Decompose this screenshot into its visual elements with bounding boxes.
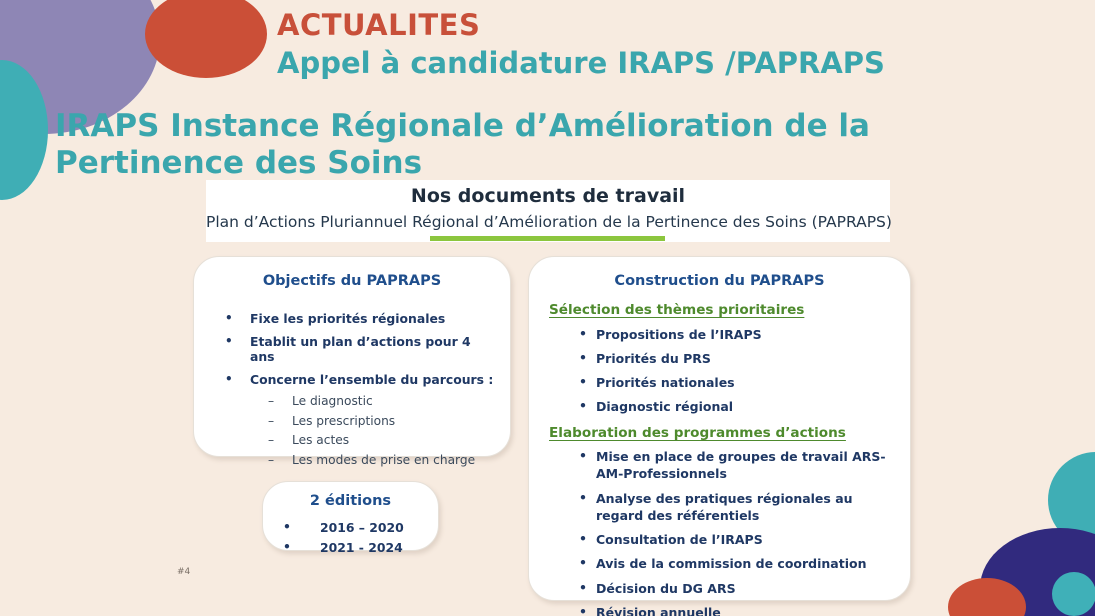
list-item: Les modes de prise en charge bbox=[250, 453, 496, 468]
decorative-circle-orange-top bbox=[145, 0, 267, 78]
list-item: Diagnostic régional bbox=[545, 398, 894, 415]
list-item-label: Concerne l’ensemble du parcours : bbox=[250, 372, 493, 387]
header-eyebrow: ACTUALITES bbox=[277, 8, 885, 42]
list-item: Fixe les priorités régionales bbox=[208, 312, 496, 327]
header-title-block: ACTUALITES Appel à candidature IRAPS /PA… bbox=[277, 8, 885, 81]
list-item: Les actes bbox=[250, 433, 496, 448]
documents-band: Nos documents de travail Plan d’Actions … bbox=[206, 180, 890, 242]
card-editions: 2 éditions 2016 – 2020 2021 - 2024 bbox=[262, 481, 439, 551]
list-item: Analyse des pratiques régionales au rega… bbox=[545, 490, 894, 525]
list-item: Révision annuelle bbox=[545, 604, 894, 616]
section-heading-selection: Sélection des thèmes prioritaires bbox=[549, 302, 894, 318]
green-underline-rule bbox=[430, 236, 665, 241]
card-construction-title: Construction du PAPRAPS bbox=[545, 273, 894, 290]
list-item: Le diagnostic bbox=[250, 394, 496, 409]
card-objectifs-title: Objectifs du PAPRAPS bbox=[208, 273, 496, 290]
list-item: Etablit un plan d’actions pour 4 ans bbox=[208, 335, 496, 365]
list-item: Propositions de l’IRAPS bbox=[545, 326, 894, 343]
list-item: Mise en place de groupes de travail ARS-… bbox=[545, 448, 894, 483]
objectifs-list: Fixe les priorités régionales Etablit un… bbox=[208, 312, 496, 467]
header-subtitle: Appel à candidature IRAPS /PAPRAPS bbox=[277, 45, 885, 81]
list-item: Avis de la commission de coordination bbox=[545, 555, 894, 572]
list-item: Décision du DG ARS bbox=[545, 580, 894, 597]
documents-band-title: Nos documents de travail bbox=[206, 186, 890, 207]
page-title: IRAPS Instance Régionale d’Amélioration … bbox=[55, 108, 1055, 181]
list-item: Les prescriptions bbox=[250, 414, 496, 429]
list-item: Consultation de l’IRAPS bbox=[545, 531, 894, 548]
list-item: 2021 - 2024 bbox=[273, 541, 428, 556]
list-item: Priorités nationales bbox=[545, 374, 894, 391]
list-item: 2016 – 2020 bbox=[273, 521, 428, 536]
card-editions-title: 2 éditions bbox=[273, 493, 428, 510]
elaboration-list: Mise en place de groupes de travail ARS-… bbox=[545, 448, 894, 616]
objectifs-sub-list: Le diagnostic Les prescriptions Les acte… bbox=[250, 394, 496, 468]
page-number: #4 bbox=[177, 567, 190, 577]
list-item: Concerne l’ensemble du parcours : Le dia… bbox=[208, 373, 496, 467]
card-objectifs: Objectifs du PAPRAPS Fixe les priorités … bbox=[193, 256, 511, 457]
documents-band-subtitle: Plan d’Actions Pluriannuel Régional d’Am… bbox=[206, 214, 892, 232]
card-construction: Construction du PAPRAPS Sélection des th… bbox=[528, 256, 911, 601]
slide: ACTUALITES Appel à candidature IRAPS /PA… bbox=[0, 0, 1095, 616]
list-item: Priorités du PRS bbox=[545, 350, 894, 367]
decorative-circle-teal-small bbox=[1052, 572, 1095, 616]
editions-list: 2016 – 2020 2021 - 2024 bbox=[273, 521, 428, 556]
section-heading-elaboration: Elaboration des programmes d’actions bbox=[549, 425, 894, 441]
selection-list: Propositions de l’IRAPS Priorités du PRS… bbox=[545, 326, 894, 416]
